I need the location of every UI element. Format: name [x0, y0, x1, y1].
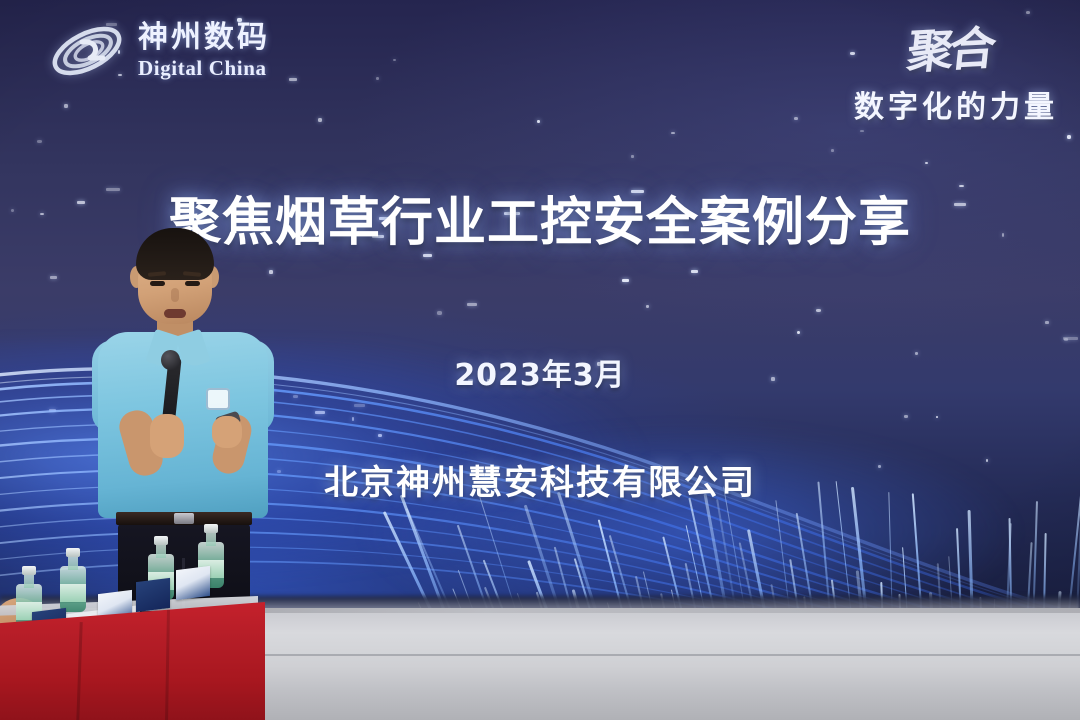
particle-dot	[1067, 135, 1072, 139]
particle-dot	[64, 104, 67, 108]
particle-dot	[318, 118, 322, 122]
slogan-calligraphy: 聚合	[904, 12, 996, 82]
particle-dot	[631, 155, 634, 158]
logo-name-en: Digital China	[138, 58, 270, 79]
logo-text-block: 神州数码 Digital China	[138, 23, 270, 79]
particle-dot	[537, 120, 540, 123]
bottle-cap	[204, 524, 218, 533]
name-card	[176, 566, 210, 600]
particle-dot	[37, 140, 42, 143]
particle-dot	[50, 276, 58, 279]
speaker-belt-buckle	[174, 513, 194, 524]
bottle-cap	[22, 566, 36, 575]
speaker-eye-left	[150, 281, 165, 286]
particle-dot	[376, 77, 379, 80]
digital-china-swirl-icon	[48, 22, 126, 80]
speaker-shirt-badge	[206, 388, 230, 410]
speaker-hand-left	[150, 414, 184, 458]
particle-dot	[622, 279, 629, 282]
name-card	[136, 578, 170, 612]
particle-dot	[393, 59, 396, 62]
bottle-cap	[66, 548, 80, 557]
event-slogan: 聚合 数字化的力量	[854, 14, 1058, 126]
foreground-table	[0, 582, 265, 720]
particle-dot	[831, 149, 834, 153]
bottle-cap	[154, 536, 168, 545]
bottle-label	[60, 584, 86, 602]
microphone-head-icon	[161, 350, 180, 370]
particle-dot	[925, 162, 929, 164]
particle-dot	[289, 78, 298, 81]
speaker-hand-right	[212, 416, 242, 448]
slogan-subtitle: 数字化的力量	[854, 82, 1058, 126]
speaker-nose	[171, 288, 179, 302]
particle-dot	[691, 270, 698, 273]
particle-dot	[794, 117, 798, 120]
speaker-mouth	[164, 309, 186, 318]
speaker-eye-right	[185, 281, 200, 286]
particle-dot	[860, 130, 864, 132]
particle-dot	[671, 132, 675, 134]
logo-name-cn: 神州数码	[138, 23, 270, 53]
digital-china-logo: 神州数码 Digital China	[48, 22, 270, 80]
conference-photo: 神州数码 Digital China 聚合 数字化的力量 聚焦烟草行业工控安全案…	[0, 0, 1080, 720]
water-bottle	[60, 548, 86, 612]
